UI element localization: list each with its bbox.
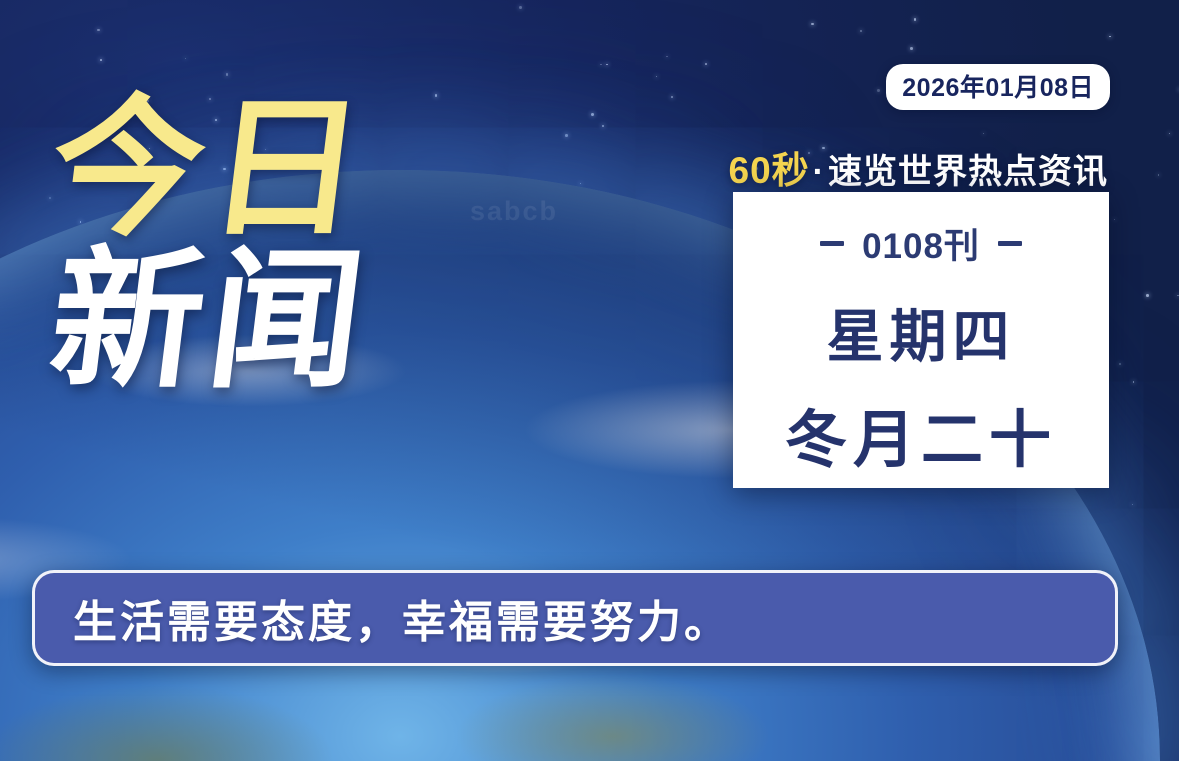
motto-text: 生活需要态度，幸福需要努力。 <box>73 586 731 650</box>
page-title: 今日 新闻 <box>52 96 368 394</box>
info-card: 0108刊 星期四 冬月二十 <box>733 192 1109 488</box>
motto-banner: 生活需要态度，幸福需要努力。 <box>32 570 1118 666</box>
watermark-text: sabcb <box>470 196 558 227</box>
issue-number: 0108刊 <box>862 218 980 269</box>
date-badge: 2026年01月08日 <box>886 64 1110 110</box>
dash-left-icon <box>820 241 844 246</box>
tagline-text: 速览世界热点资讯 <box>828 153 1108 191</box>
title-line-xinwen: 新闻 <box>43 248 377 394</box>
title-line-jinri: 今日 <box>43 96 377 242</box>
weekday-label: 星期四 <box>827 291 1016 373</box>
issue-row: 0108刊 <box>820 218 1022 269</box>
tagline-separator: · <box>813 153 825 191</box>
dash-right-icon <box>998 241 1022 246</box>
tagline-seconds: 60秒 <box>729 150 810 191</box>
tagline: 60秒·速览世界热点资讯 <box>729 140 1108 194</box>
news-poster: sabcb 今日 新闻 2026年01月08日 60秒·速览世界热点资讯 010… <box>0 0 1179 761</box>
lunar-date-label: 冬月二十 <box>785 389 1057 479</box>
